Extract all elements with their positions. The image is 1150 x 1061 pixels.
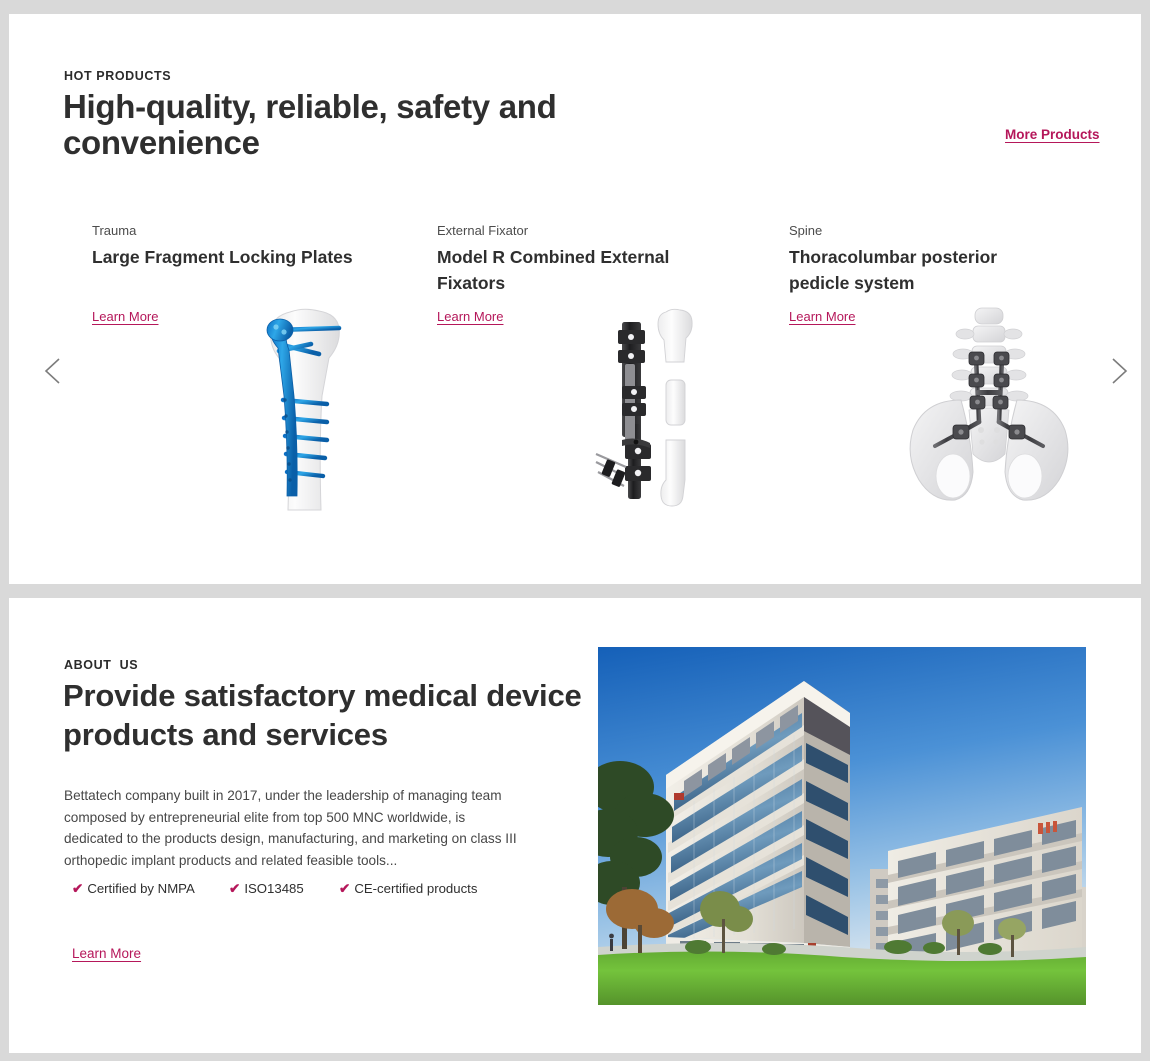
certification-list: ✔Certified by NMPA ✔ISO13485 ✔CE-certifi…: [64, 881, 584, 903]
carousel-prev-button[interactable]: [37, 352, 71, 390]
chevron-left-icon: [37, 352, 71, 390]
product-category: External Fixator: [437, 223, 528, 238]
about-campus-photo: [598, 647, 1086, 1005]
product-title: Model R Combined External Fixators: [437, 244, 722, 296]
certification-badge: ✔Certified by NMPA: [72, 881, 195, 897]
check-icon: ✔: [229, 881, 240, 896]
check-icon: ✔: [72, 881, 83, 896]
products-eyebrow: HOT PRODUCTS: [64, 69, 171, 83]
page-root: HOT PRODUCTS High-quality, reliable, saf…: [0, 0, 1150, 1061]
product-category: Trauma: [92, 223, 136, 238]
product-card[interactable]: Spine Thoracolumbar posterior pedicle sy…: [789, 204, 1134, 534]
about-eyebrow: ABOUT US: [64, 658, 138, 672]
about-heading: Provide satisfactory medical device prod…: [63, 676, 583, 754]
certification-label: Certified by NMPA: [87, 881, 194, 896]
carousel-next-button[interactable]: [1101, 352, 1135, 390]
external-fixator-image: [592, 304, 717, 519]
certification-label: ISO13485: [244, 881, 303, 896]
pedicle-system-image: [899, 304, 1079, 519]
product-card-list: Trauma Large Fragment Locking Plates Lea…: [9, 204, 1141, 534]
product-card[interactable]: Trauma Large Fragment Locking Plates Lea…: [92, 204, 437, 534]
about-description: Bettatech company built in 2017, under t…: [64, 785, 524, 871]
product-learn-more-link[interactable]: Learn More: [789, 309, 855, 324]
product-category: Spine: [789, 223, 822, 238]
about-learn-more-link[interactable]: Learn More: [72, 946, 141, 961]
certification-badge: ✔ISO13485: [229, 881, 304, 897]
product-title: Thoracolumbar posterior pedicle system: [789, 244, 1039, 296]
more-products-link[interactable]: More Products: [1005, 127, 1100, 142]
product-card[interactable]: External Fixator Model R Combined Extern…: [437, 204, 782, 534]
certification-label: CE-certified products: [354, 881, 477, 896]
chevron-right-icon: [1101, 352, 1135, 390]
products-heading: High-quality, reliable, safety and conve…: [63, 89, 623, 161]
about-us-section: ABOUT US Provide satisfactory medical de…: [9, 598, 1141, 1053]
product-title: Large Fragment Locking Plates: [92, 244, 377, 270]
locking-plate-image: [257, 304, 367, 519]
product-learn-more-link[interactable]: Learn More: [437, 309, 503, 324]
hot-products-section: HOT PRODUCTS High-quality, reliable, saf…: [9, 14, 1141, 584]
check-icon: ✔: [339, 881, 350, 896]
certification-badge: ✔CE-certified products: [339, 881, 477, 897]
product-learn-more-link[interactable]: Learn More: [92, 309, 158, 324]
